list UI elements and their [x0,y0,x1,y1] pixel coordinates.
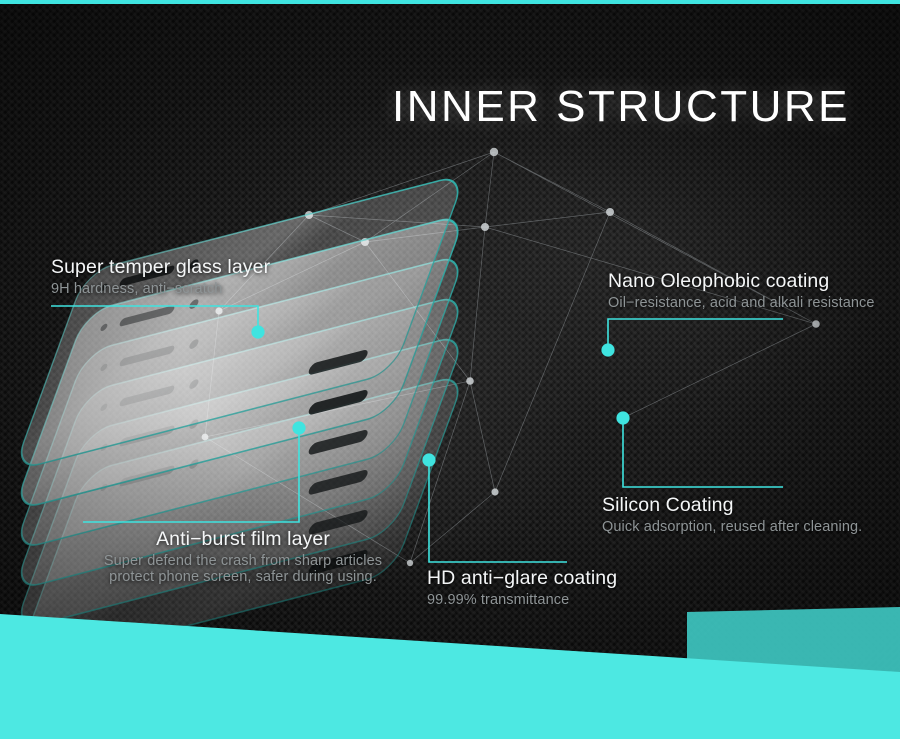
callout-hd-anti-glare-coating: HD anti−glare coating 99.99% transmittan… [427,567,617,608]
infographic-canvas: INNER STRUCTURE Super temper glass layer… [0,0,900,739]
callout-subtitle: Oil−resistance, acid and alkali resistan… [608,295,875,311]
callout-title: Anti−burst film layer [78,528,408,551]
callout-subtitle-line2: protect phone screen, safer during using… [78,569,408,585]
callout-subtitle: 99.99% transmittance [427,592,617,608]
callout-anti-burst-film-layer: Anti−burst film layer Super defend the c… [78,528,408,585]
callout-title: HD anti−glare coating [427,567,617,590]
callout-nano-oleophobic-coating: Nano Oleophobic coating Oil−resistance, … [608,270,875,311]
page-title: INNER STRUCTURE [392,82,850,132]
callout-subtitle: 9H hardness, anti−scratch [51,281,270,297]
callout-title: Silicon Coating [602,494,862,517]
callout-subtitle: Quick adsorption, reused after cleaning. [602,519,862,535]
callout-title: Super temper glass layer [51,256,270,279]
callout-subtitle-line1: Super defend the crash from sharp articl… [78,553,408,569]
callout-title: Nano Oleophobic coating [608,270,875,293]
callout-silicon-coating: Silicon Coating Quick adsorption, reused… [602,494,862,535]
callout-super-temper-glass-layer: Super temper glass layer 9H hardness, an… [51,256,270,297]
